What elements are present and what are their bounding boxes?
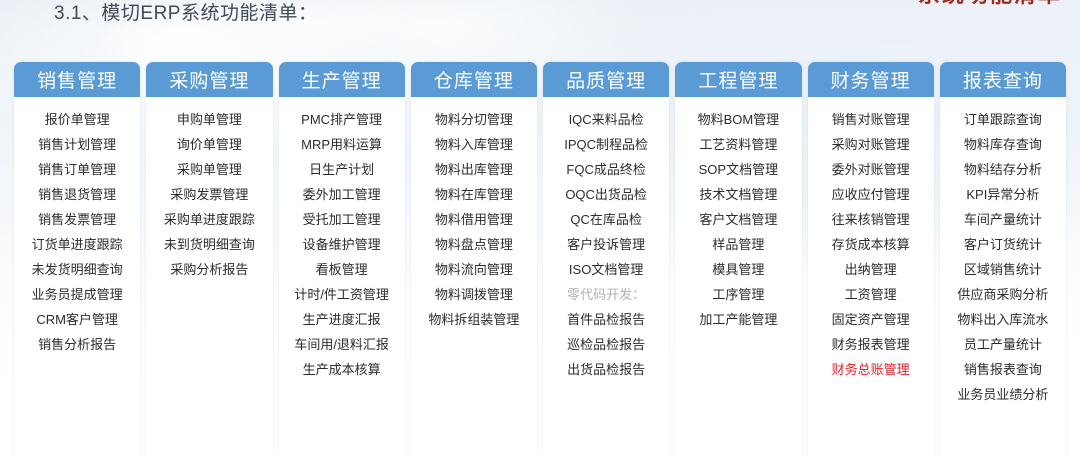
module-card-body: 订单跟踪查询物料库存查询物料结存分析KPI异常分析车间产量统计客户订货统计区域销… [940, 97, 1066, 457]
module-list-item[interactable]: 工艺资料管理 [699, 132, 777, 157]
module-card: 品质管理IQC来料品检IPQC制程品检FQC成品终检OQC出货品检QC在库品检客… [543, 62, 669, 457]
module-list-item[interactable]: 销售订单管理 [38, 157, 116, 182]
module-list-item[interactable]: 财务报表管理 [832, 332, 910, 357]
module-list-item[interactable]: 申购单管理 [177, 107, 242, 132]
module-list-item[interactable]: PMC排产管理 [301, 107, 382, 132]
module-list-item[interactable]: 巡检品检报告 [567, 332, 645, 357]
module-list-item[interactable]: 设备维护管理 [303, 232, 381, 257]
module-list-item[interactable]: 物料BOM管理 [698, 107, 780, 132]
module-list-item[interactable]: 区域销售统计 [964, 257, 1042, 282]
module-list-item[interactable]: 计时/件工资管理 [294, 282, 389, 307]
module-list-item[interactable]: 采购分析报告 [170, 257, 248, 282]
module-list-item[interactable]: IPQC制程品检 [564, 132, 648, 157]
module-list-item[interactable]: 业务员业绩分析 [957, 382, 1048, 407]
module-list-item[interactable]: 看板管理 [316, 257, 368, 282]
module-card-header[interactable]: 品质管理 [543, 62, 669, 97]
module-list-item[interactable]: 销售计划管理 [38, 132, 116, 157]
module-card-header[interactable]: 报表查询 [940, 62, 1066, 97]
module-list-item[interactable]: 物料调拨管理 [435, 282, 513, 307]
module-list-item[interactable]: 订单跟踪查询 [964, 107, 1042, 132]
module-list-item[interactable]: 员工产量统计 [964, 332, 1042, 357]
module-card-header[interactable]: 财务管理 [808, 62, 934, 97]
module-list-item[interactable]: 日生产计划 [309, 157, 374, 182]
module-card-header[interactable]: 生产管理 [279, 62, 405, 97]
module-list-item[interactable]: 报价单管理 [45, 107, 110, 132]
module-list-item[interactable]: 车间用/退料汇报 [294, 332, 389, 357]
module-list-item[interactable]: CRM客户管理 [36, 307, 118, 332]
module-list-item[interactable]: 销售分析报告 [38, 332, 116, 357]
module-list-item[interactable]: 工资管理 [845, 282, 897, 307]
module-list-item[interactable]: 出货品检报告 [567, 357, 645, 382]
module-list-item[interactable]: 技术文档管理 [699, 182, 777, 207]
module-list-item[interactable]: 客户订货统计 [964, 232, 1042, 257]
module-list-item[interactable]: 物料流向管理 [435, 257, 513, 282]
module-list-item[interactable]: 采购单进度跟踪 [164, 207, 255, 232]
module-list-item[interactable]: 物料库存查询 [964, 132, 1042, 157]
module-list-item[interactable]: 物料分切管理 [435, 107, 513, 132]
module-list-subheading: 零代码开发： [567, 282, 645, 307]
module-list-item[interactable]: QC在库品检 [570, 207, 642, 232]
module-list-item[interactable]: 财务总账管理 [832, 357, 910, 382]
module-list-item[interactable]: 销售报表查询 [964, 357, 1042, 382]
module-list-item[interactable]: 物料结存分析 [964, 157, 1042, 182]
module-list-item[interactable]: 物料借用管理 [435, 207, 513, 232]
module-card: 报表查询订单跟踪查询物料库存查询物料结存分析KPI异常分析车间产量统计客户订货统… [940, 62, 1066, 457]
module-list-item[interactable]: 供应商采购分析 [957, 282, 1048, 307]
module-card: 销售管理报价单管理销售计划管理销售订单管理销售退货管理销售发票管理订货单进度跟踪… [14, 62, 140, 457]
module-card-body: 物料BOM管理工艺资料管理SOP文档管理技术文档管理客户文档管理样品管理模具管理… [675, 97, 801, 457]
module-card: 财务管理销售对账管理采购对账管理委外对账管理应收应付管理往来核销管理存货成本核算… [808, 62, 934, 457]
module-list-item[interactable]: 固定资产管理 [832, 307, 910, 332]
module-card-body: 物料分切管理物料入库管理物料出库管理物料在库管理物料借用管理物料盘点管理物料流向… [411, 97, 537, 457]
module-list-item[interactable]: 车间产量统计 [964, 207, 1042, 232]
module-card-header[interactable]: 工程管理 [675, 62, 801, 97]
module-list-item[interactable]: 采购单管理 [177, 157, 242, 182]
module-list-item[interactable]: 采购发票管理 [170, 182, 248, 207]
module-card-header[interactable]: 仓库管理 [411, 62, 537, 97]
module-list-item[interactable]: 物料在库管理 [435, 182, 513, 207]
module-list-item[interactable]: 物料盘点管理 [435, 232, 513, 257]
module-list-item[interactable]: 委外对账管理 [832, 157, 910, 182]
module-list-item[interactable]: ISO文档管理 [569, 257, 643, 282]
clipped-section-heading: 系统功能清单 [918, 0, 1062, 9]
module-card: 仓库管理物料分切管理物料入库管理物料出库管理物料在库管理物料借用管理物料盘点管理… [411, 62, 537, 457]
module-list-item[interactable]: 客户文档管理 [699, 207, 777, 232]
module-list-item[interactable]: 销售对账管理 [832, 107, 910, 132]
module-card-header[interactable]: 销售管理 [14, 62, 140, 97]
slide-canvas: 系统功能清单 3.1、模切ERP系统功能清单： 销售管理报价单管理销售计划管理销… [0, 0, 1080, 457]
module-list-item[interactable]: MRP用料运算 [301, 132, 382, 157]
module-list-item[interactable]: 物料拆组装管理 [428, 307, 519, 332]
module-list-item[interactable]: 未到货明细查询 [164, 232, 255, 257]
module-list-item[interactable]: 委外加工管理 [303, 182, 381, 207]
module-card-body: IQC来料品检IPQC制程品检FQC成品终检OQC出货品检QC在库品检客户投诉管… [543, 97, 669, 457]
module-list-item[interactable]: 模具管理 [712, 257, 764, 282]
module-list-item[interactable]: SOP文档管理 [699, 157, 778, 182]
module-list-item[interactable]: 客户投诉管理 [567, 232, 645, 257]
module-card: 生产管理PMC排产管理MRP用料运算日生产计划委外加工管理受托加工管理设备维护管… [279, 62, 405, 457]
module-list-item[interactable]: 往来核销管理 [832, 207, 910, 232]
module-list-item[interactable]: 加工产能管理 [699, 307, 777, 332]
module-list-item[interactable]: 生产进度汇报 [303, 307, 381, 332]
module-card: 采购管理申购单管理询价单管理采购单管理采购发票管理采购单进度跟踪未到货明细查询采… [146, 62, 272, 457]
module-list-item[interactable]: 物料入库管理 [435, 132, 513, 157]
module-list-item[interactable]: 物料出入库流水 [957, 307, 1048, 332]
module-list-item[interactable]: 采购对账管理 [832, 132, 910, 157]
module-card-body: 报价单管理销售计划管理销售订单管理销售退货管理销售发票管理订货单进度跟踪未发货明… [14, 97, 140, 457]
module-card: 工程管理物料BOM管理工艺资料管理SOP文档管理技术文档管理客户文档管理样品管理… [675, 62, 801, 457]
module-list-item[interactable]: 销售退货管理 [38, 182, 116, 207]
module-list-item[interactable]: 首件品检报告 [567, 307, 645, 332]
module-list-item[interactable]: 应收应付管理 [832, 182, 910, 207]
module-list-item[interactable]: IQC来料品检 [569, 107, 644, 132]
module-card-header[interactable]: 采购管理 [146, 62, 272, 97]
module-card-grid: 销售管理报价单管理销售计划管理销售订单管理销售退货管理销售发票管理订货单进度跟踪… [14, 62, 1066, 457]
module-card-body: 销售对账管理采购对账管理委外对账管理应收应付管理往来核销管理存货成本核算出纳管理… [808, 97, 934, 457]
module-list-item[interactable]: 物料出库管理 [435, 157, 513, 182]
module-card-body: PMC排产管理MRP用料运算日生产计划委外加工管理受托加工管理设备维护管理看板管… [279, 97, 405, 457]
module-list-item[interactable]: KPI异常分析 [966, 182, 1039, 207]
module-list-item[interactable]: 未发货明细查询 [32, 257, 123, 282]
module-list-item[interactable]: 生产成本核算 [303, 357, 381, 382]
module-list-item[interactable]: 存货成本核算 [832, 232, 910, 257]
module-list-item[interactable]: 订货单进度跟踪 [32, 232, 123, 257]
module-list-item[interactable]: FQC成品终检 [566, 157, 645, 182]
module-list-item[interactable]: 业务员提成管理 [32, 282, 123, 307]
module-list-item[interactable]: OQC出货品检 [565, 182, 647, 207]
module-card-body: 申购单管理询价单管理采购单管理采购发票管理采购单进度跟踪未到货明细查询采购分析报… [146, 97, 272, 457]
module-list-item[interactable]: 样品管理 [712, 232, 764, 257]
module-list-item[interactable]: 销售发票管理 [38, 207, 116, 232]
module-list-item[interactable]: 工序管理 [712, 282, 764, 307]
module-list-item[interactable]: 受托加工管理 [303, 207, 381, 232]
module-list-item[interactable]: 询价单管理 [177, 132, 242, 157]
page-title: 3.1、模切ERP系统功能清单： [54, 0, 317, 25]
module-list-item[interactable]: 出纳管理 [845, 257, 897, 282]
